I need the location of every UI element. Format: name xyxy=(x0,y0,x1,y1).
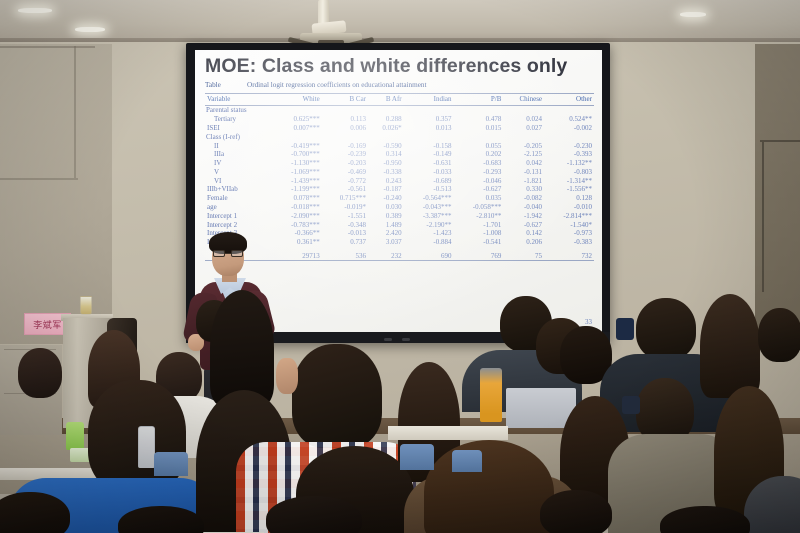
table-row: Tertiary0.625***0.1130.2880.3570.4780.02… xyxy=(205,115,594,124)
audience-head xyxy=(424,440,554,533)
table-cell: 2.420 xyxy=(368,229,404,238)
table-cell: -0.149 xyxy=(404,150,454,159)
table-cell: -0.010 xyxy=(544,203,594,212)
table-cell: -0.205 xyxy=(503,141,544,150)
table-cell: 0.113 xyxy=(322,115,368,124)
table-cell: 0.024 xyxy=(503,115,544,124)
table-row-label: Class (I-ref) xyxy=(205,132,272,141)
table-cell: -0.203 xyxy=(322,159,368,168)
table-cell: 0.288 xyxy=(368,115,404,124)
table-cell: -1.199*** xyxy=(272,185,322,194)
table-cell: -0.169 xyxy=(322,141,368,150)
table-cell xyxy=(272,132,322,141)
ceiling-light xyxy=(680,12,706,17)
audience-head xyxy=(266,496,362,533)
table-cell: -0.239 xyxy=(322,150,368,159)
table-cell: -0.040 xyxy=(503,203,544,212)
table-col-header: Variable xyxy=(205,94,272,106)
table-cell: -1.069*** xyxy=(272,167,322,176)
table-cell: 0.524** xyxy=(544,115,594,124)
table-cell: -1.540* xyxy=(544,220,594,229)
table-cell: -2.814*** xyxy=(544,211,594,220)
table-cell: -1.314** xyxy=(544,176,594,185)
table-row-label: age xyxy=(205,203,272,212)
table-col-header: Chinese xyxy=(503,94,544,106)
water-bottle xyxy=(138,426,155,468)
table-cell: -0.683 xyxy=(454,159,504,168)
table-cell: -1.821 xyxy=(503,176,544,185)
desk xyxy=(388,426,508,440)
table-row-label: V xyxy=(205,167,272,176)
table-cell: -0.469 xyxy=(322,167,368,176)
table-cell: 0.206 xyxy=(503,238,544,247)
table-cell: -1.439*** xyxy=(272,176,322,185)
table-cell: 0.013 xyxy=(404,124,454,133)
table-cell xyxy=(503,132,544,141)
table-cell: -0.700*** xyxy=(272,150,322,159)
table-col-header: B Car xyxy=(322,94,368,106)
wall-left-panel xyxy=(0,44,112,344)
table-row: Intercept 2-0.783***-0.3481.489-2.190**-… xyxy=(205,220,594,229)
table-row: Intercept 1-2.090***-1.5510.389-3.387***… xyxy=(205,211,594,220)
table-row-label: ISEI xyxy=(205,124,272,133)
table-cell: 0.015 xyxy=(454,124,504,133)
table-row-label: II xyxy=(205,141,272,150)
table-cell: -2.125 xyxy=(503,150,544,159)
table-cell: 0.478 xyxy=(454,115,504,124)
table-cell: -0.033 xyxy=(404,167,454,176)
audience-head xyxy=(700,294,760,398)
table-cell: -0.046 xyxy=(454,176,504,185)
wall-seam xyxy=(74,46,76,178)
table-cell: -0.631 xyxy=(404,159,454,168)
table-cell: -0.018*** xyxy=(272,203,322,212)
table-cell: 0.007*** xyxy=(272,124,322,133)
table-cell: 3.037 xyxy=(368,238,404,247)
table-cell: 0.625*** xyxy=(272,115,322,124)
wall-seam xyxy=(0,178,78,180)
table-row: Parental status xyxy=(205,106,594,115)
table-cell: -0.082 xyxy=(503,194,544,203)
slide-title: MOE: Class and white differences only xyxy=(205,55,594,78)
table-cell: 0.026* xyxy=(368,124,404,133)
table-cell: -0.561 xyxy=(322,185,368,194)
table-cell: -0.419*** xyxy=(272,141,322,150)
table-cell: -2.090*** xyxy=(272,211,322,220)
chair xyxy=(400,444,434,470)
table-cell: 0.330 xyxy=(503,185,544,194)
table-cell: -0.393 xyxy=(544,150,594,159)
table-cell xyxy=(404,106,454,115)
table-cell: 732 xyxy=(544,247,594,261)
table-cell: -1.701 xyxy=(454,220,504,229)
table-col-header: P/B xyxy=(454,94,504,106)
table-cell xyxy=(454,132,504,141)
table-cell: -0.348 xyxy=(322,220,368,229)
audience xyxy=(0,300,800,533)
audience-head xyxy=(758,308,800,362)
table-cell: 232 xyxy=(368,247,404,261)
table-cell: -0.002 xyxy=(544,124,594,133)
table-cell: -0.013 xyxy=(322,229,368,238)
table-cell xyxy=(503,106,544,115)
glasses-bridge xyxy=(225,253,231,254)
table-cell: 0.314 xyxy=(368,150,404,159)
table-cell: 0.142 xyxy=(503,229,544,238)
table-cell: -0.187 xyxy=(368,185,404,194)
table-header-row: VariableWhiteB CarB AfrIndianP/BChineseO… xyxy=(205,94,594,106)
slide-caption-text: Ordinal logit regression coefficients on… xyxy=(247,81,427,89)
table-row: age-0.018***-0.019*0.030-0.043***-0.058*… xyxy=(205,203,594,212)
table-cell: 0.128 xyxy=(544,194,594,203)
table-cell: -0.019* xyxy=(322,203,368,212)
water-bottle xyxy=(66,422,84,450)
table-row-label: IIIb+VIIab xyxy=(205,185,272,194)
table-cell: -0.541 xyxy=(454,238,504,247)
table-cell: 0.027 xyxy=(503,124,544,133)
chair xyxy=(154,452,188,476)
table-cell: -0.590 xyxy=(368,141,404,150)
audience-ear xyxy=(276,358,298,394)
table-cell xyxy=(322,132,368,141)
lecture-hall-scene: EPSON MOE: Class and white differences o… xyxy=(0,0,800,533)
table-cell xyxy=(368,132,404,141)
ceiling-light xyxy=(75,27,105,32)
table-cell: -0.230 xyxy=(544,141,594,150)
table-row-label: Tertiary xyxy=(205,115,272,124)
table-row-label: Intercept 2 xyxy=(205,220,272,229)
table-cell: 0.715*** xyxy=(322,194,368,203)
table-cell xyxy=(454,106,504,115)
table-col-header: B Afr xyxy=(368,94,404,106)
table-cell: 0.035 xyxy=(454,194,504,203)
table-cell: -0.338 xyxy=(368,167,404,176)
thermos-bottle xyxy=(480,368,502,422)
table-cell: 75 xyxy=(503,247,544,261)
table-cell: -0.772 xyxy=(322,176,368,185)
table-row-label: VI xyxy=(205,176,272,185)
table-row: Female0.078***0.715***-0.240-0.564***0.0… xyxy=(205,194,594,203)
table-cell: -0.627 xyxy=(454,185,504,194)
table-cell: -1.942 xyxy=(503,211,544,220)
table-cell: -1.132** xyxy=(544,159,594,168)
table-cell: 0.389 xyxy=(368,211,404,220)
table-cell: -0.973 xyxy=(544,229,594,238)
table-cell: -2.190** xyxy=(404,220,454,229)
table-cell: -0.043*** xyxy=(404,203,454,212)
table-cell: 0.243 xyxy=(368,176,404,185)
chair xyxy=(452,450,482,472)
table-cell: -0.803 xyxy=(544,167,594,176)
table-cell xyxy=(368,106,404,115)
table-cell: -0.240 xyxy=(368,194,404,203)
eyeglasses-icon xyxy=(622,396,640,414)
table-cell: -0.689 xyxy=(404,176,454,185)
table-cell: -2.810** xyxy=(454,211,504,220)
table-cell: -1.423 xyxy=(404,229,454,238)
table-row: IIIa-0.700***-0.2390.314-0.1490.202-2.12… xyxy=(205,150,594,159)
table-row-label: Intercept 1 xyxy=(205,211,272,220)
table-cell: 769 xyxy=(454,247,504,261)
table-cell: -1.008 xyxy=(454,229,504,238)
table-row: V-1.069***-0.469-0.338-0.033-0.293-0.131… xyxy=(205,167,594,176)
table-cell: -0.950 xyxy=(368,159,404,168)
table-cell: 0.737 xyxy=(322,238,368,247)
table-col-header: Other xyxy=(544,94,594,106)
table-cell: -0.131 xyxy=(503,167,544,176)
wall-seam xyxy=(0,46,95,48)
audience-head xyxy=(292,344,382,448)
table-cell xyxy=(322,106,368,115)
table-row-label: Female xyxy=(205,194,272,203)
wall-seam xyxy=(760,140,800,142)
table-row: IIIb+VIIab-1.199***-0.561-0.187-0.513-0.… xyxy=(205,185,594,194)
table-row: II-0.419***-0.169-0.590-0.1580.055-0.205… xyxy=(205,141,594,150)
table-cell: 0.030 xyxy=(368,203,404,212)
table-cell: 0.357 xyxy=(404,115,454,124)
table-cell: 0.361** xyxy=(272,238,322,247)
table-cell: 0.078*** xyxy=(272,194,322,203)
table-cell: -0.783*** xyxy=(272,220,322,229)
table-cell: -0.383 xyxy=(544,238,594,247)
eyeglasses-icon xyxy=(616,318,634,340)
table-cell: -0.564*** xyxy=(404,194,454,203)
table-cell: 0.006 xyxy=(322,124,368,133)
wall-seam xyxy=(762,142,764,292)
table-cell: -1.551 xyxy=(322,211,368,220)
table-cell: 536 xyxy=(322,247,368,261)
table-cell xyxy=(544,132,594,141)
table-cell xyxy=(544,106,594,115)
table-row-label: IIIa xyxy=(205,150,272,159)
slide-caption-key: Table xyxy=(205,81,247,89)
table-cell: 0.202 xyxy=(454,150,504,159)
table-cell: -0.293 xyxy=(454,167,504,176)
audience-head xyxy=(636,298,696,360)
table-cell: 0.055 xyxy=(454,141,504,150)
table-cell: 29713 xyxy=(272,247,322,261)
table-row: ISEI0.007***0.0060.026*0.0130.0150.027-0… xyxy=(205,124,594,133)
table-col-header: Indian xyxy=(404,94,454,106)
table-cell: -0.158 xyxy=(404,141,454,150)
table-cell xyxy=(404,132,454,141)
table-cell: -0.884 xyxy=(404,238,454,247)
ceiling-light xyxy=(18,8,52,13)
ceiling xyxy=(0,0,800,42)
table-cell: -1.556** xyxy=(544,185,594,194)
table-cell: -0.366** xyxy=(272,229,322,238)
table-col-header: White xyxy=(272,94,322,106)
table-cell: 0.042 xyxy=(503,159,544,168)
table-row: IV-1.130***-0.203-0.950-0.631-0.6830.042… xyxy=(205,159,594,168)
audience-head xyxy=(540,490,612,533)
table-cell xyxy=(272,106,322,115)
table-cell: 690 xyxy=(404,247,454,261)
table-cell: -1.130*** xyxy=(272,159,322,168)
table-cell: 1.489 xyxy=(368,220,404,229)
table-row: VI-1.439***-0.7720.243-0.689-0.046-1.821… xyxy=(205,176,594,185)
audience-head xyxy=(18,348,62,398)
table-cell: -3.387*** xyxy=(404,211,454,220)
audience-head xyxy=(210,290,274,406)
table-cell: -0.058*** xyxy=(454,203,504,212)
table-row: Class (I-ref) xyxy=(205,132,594,141)
table-cell: -0.513 xyxy=(404,185,454,194)
table-cell: -0.627 xyxy=(503,220,544,229)
table-row-label: Parental status xyxy=(205,106,272,115)
table-row-label: IV xyxy=(205,159,272,168)
slide-caption: TableOrdinal logit regression coefficien… xyxy=(205,81,594,89)
